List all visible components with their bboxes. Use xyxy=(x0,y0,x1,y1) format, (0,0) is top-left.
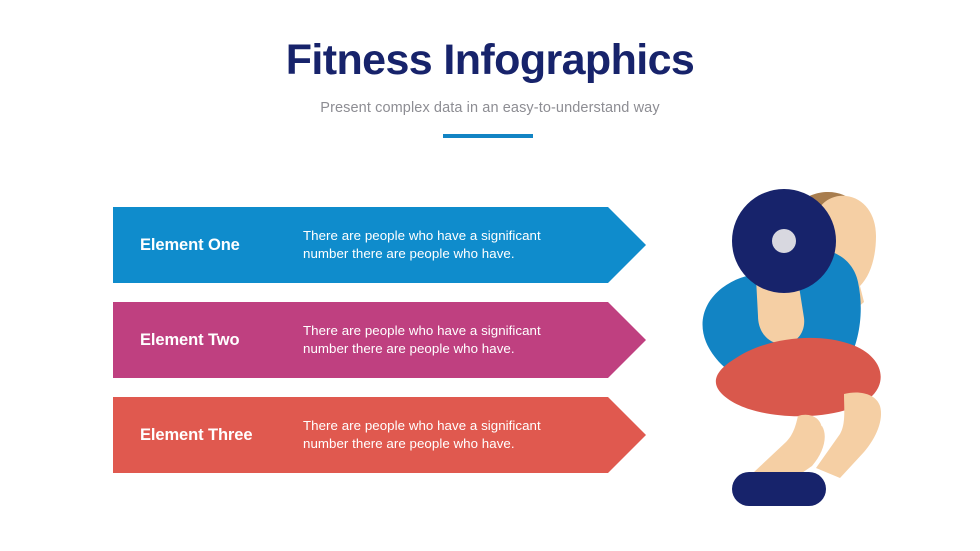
page-title: Fitness Infographics xyxy=(0,34,980,86)
header: Fitness Infographics Present complex dat… xyxy=(0,34,980,118)
banner-description-two: There are people who have a significant … xyxy=(303,302,603,378)
banner-desc-line-1: There are people who have a significant xyxy=(303,322,603,340)
squat-athlete-illustration xyxy=(694,186,924,506)
title-accent-bar xyxy=(443,134,533,138)
banner-label-two: Element Two xyxy=(140,302,300,378)
banner-element-one[interactable]: Element One There are people who have a … xyxy=(113,207,646,283)
banner-element-two[interactable]: Element Two There are people who have a … xyxy=(113,302,646,378)
banner-description-three: There are people who have a significant … xyxy=(303,397,603,473)
page-subtitle: Present complex data in an easy-to-under… xyxy=(0,86,980,118)
shoe-shape xyxy=(732,472,826,506)
banner-desc-line-2: number there are people who have. xyxy=(303,340,603,358)
banner-label-one: Element One xyxy=(140,207,300,283)
banner-desc-line-1: There are people who have a significant xyxy=(303,227,603,245)
banner-element-three[interactable]: Element Three There are people who have … xyxy=(113,397,646,473)
banner-desc-line-2: number there are people who have. xyxy=(303,435,603,453)
banner-description-one: There are people who have a significant … xyxy=(303,207,603,283)
weight-plate-hole xyxy=(772,229,796,253)
slide-canvas: Fitness Infographics Present complex dat… xyxy=(0,0,980,551)
banner-desc-line-2: number there are people who have. xyxy=(303,245,603,263)
banner-label-three: Element Three xyxy=(140,397,300,473)
banner-desc-line-1: There are people who have a significant xyxy=(303,417,603,435)
